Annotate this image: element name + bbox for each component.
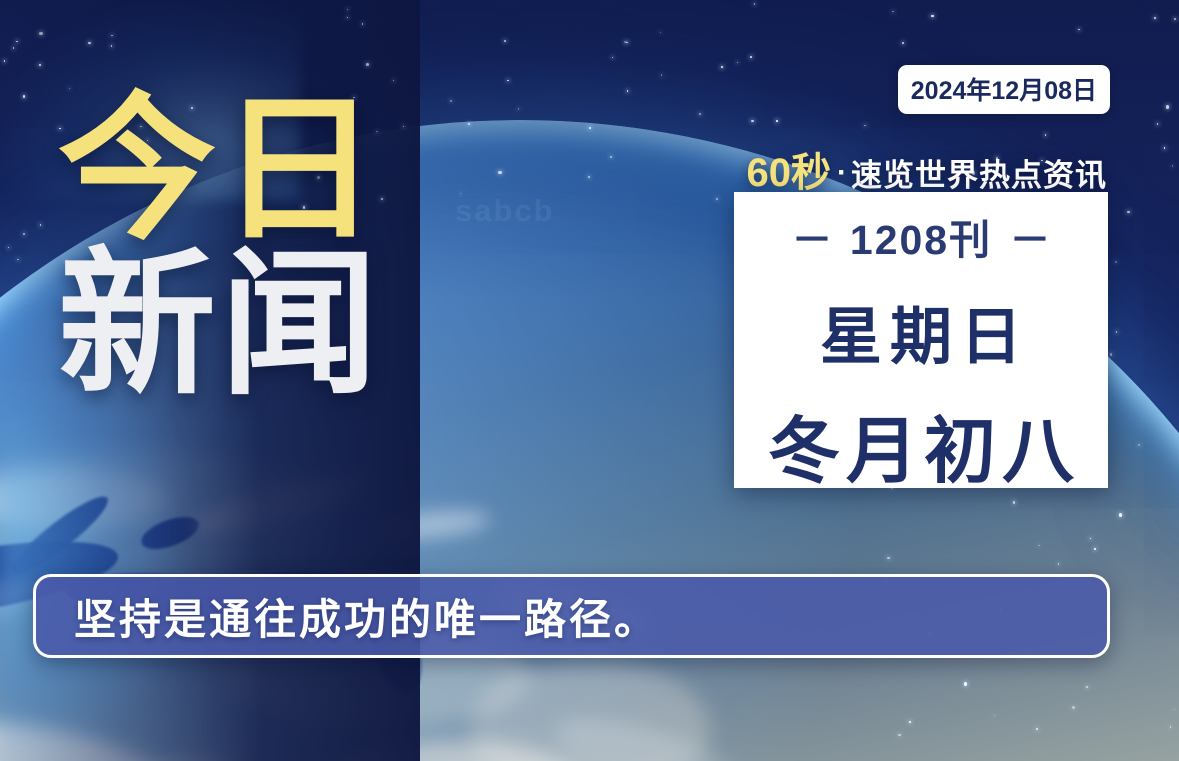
star [610,156,612,158]
star [1116,331,1118,333]
star [892,11,894,13]
lunar-date-label: 冬月初八 [762,392,1080,497]
star [660,32,662,34]
star [1013,501,1015,503]
issue-dash-right: － [1006,217,1055,263]
star [1154,17,1156,19]
star [716,198,718,200]
star [776,120,778,122]
star [1172,165,1174,167]
title-line-today: 今日 [58,96,382,245]
star [931,15,933,17]
star [111,45,113,47]
star [964,682,967,685]
title-line-news: 新闻 [58,251,382,400]
star [393,80,395,82]
star [1170,726,1172,728]
issue-dash-left: － [787,217,836,263]
star [864,125,866,127]
star [362,23,364,25]
star [347,9,349,11]
star [994,715,996,717]
star [1174,709,1176,711]
star [23,95,25,97]
star [1058,563,1060,565]
star [8,247,10,249]
star [1078,29,1080,31]
star [111,35,113,37]
star [40,224,42,226]
news-poster: sabcb 今日 新闻 2024年12月08日 60秒·速览世界热点资讯 － 1… [0,0,1179,761]
star [1110,353,1112,355]
star [754,3,756,5]
star [612,57,614,59]
star [39,32,42,35]
star [902,42,904,44]
star [1127,211,1129,213]
star [1115,261,1117,263]
star [4,60,6,62]
star [17,259,19,261]
star [909,721,911,723]
star [1038,545,1040,547]
quote-text: 坚持是通往成功的唯一路径。 [36,586,659,647]
star [1174,18,1176,20]
issue-number: 1208刊 [850,217,992,263]
star [13,47,15,49]
quote-bar: 坚持是通往成功的唯一路径。 [33,574,1110,658]
star [507,80,509,82]
star [1086,686,1088,688]
star [588,176,590,178]
weekday-label: 星期日 [812,286,1030,376]
star [898,734,900,736]
star [1072,706,1075,709]
star [589,127,591,129]
star [16,41,18,43]
star [627,90,629,92]
star [1094,548,1096,550]
star [737,62,739,64]
tagline-description: 速览世界热点资讯 [851,158,1107,193]
star [1090,538,1092,540]
page-title: 今日 新闻 [58,96,382,399]
star [1157,123,1159,125]
star [504,40,506,42]
star [699,113,701,115]
date-badge: 2024年12月08日 [898,65,1110,114]
star [347,17,349,19]
star [23,233,25,235]
star [1036,728,1038,730]
star [468,123,470,125]
star [1166,105,1169,108]
watermark: sabcb [455,193,555,229]
star [366,63,369,66]
star [721,66,723,68]
star [88,42,90,44]
star [661,74,663,76]
star [498,171,501,174]
star [518,108,520,110]
star [750,56,752,58]
star [1045,134,1047,136]
tagline-separator: · [837,156,847,189]
star [887,557,889,559]
tagline-seconds: 60秒 [747,151,832,195]
star [39,64,41,66]
star [751,120,753,122]
star [626,42,628,44]
issue-line: － 1208刊 － [787,206,1054,266]
tagline: 60秒·速览世界热点资讯 [747,140,1108,198]
star [450,100,452,102]
star [1138,444,1140,446]
info-card: － 1208刊 － 星期日 冬月初八 [734,192,1108,488]
star [1119,513,1122,516]
star [1164,147,1166,149]
star [403,126,405,128]
